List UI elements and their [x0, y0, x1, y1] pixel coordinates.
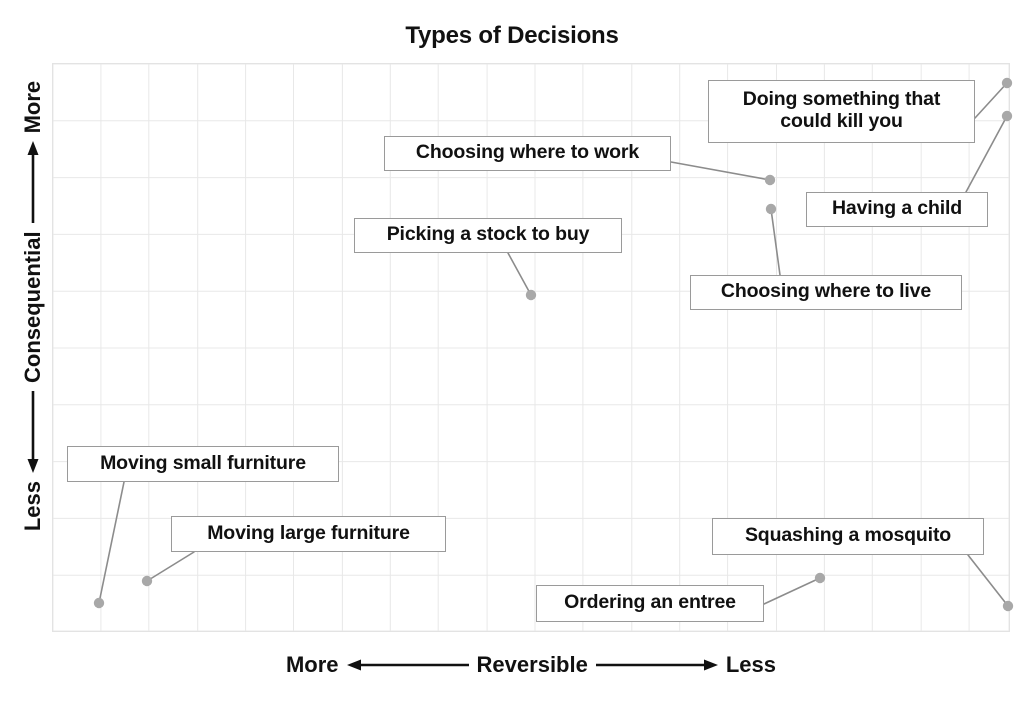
y-axis-title: Consequential — [20, 231, 46, 383]
point-label-moving-large-furniture[interactable]: Moving large furniture — [171, 516, 446, 552]
chart-title: Types of Decisions — [0, 22, 1024, 50]
y-axis-high-label: More — [20, 81, 46, 134]
x-axis-title: Reversible — [477, 652, 588, 678]
chart-root: Types of Decisions Doing something that … — [0, 0, 1024, 701]
point-label-doing-something-that-could-kill-you[interactable]: Doing something that could kill you — [708, 80, 975, 143]
x-axis-left-label: More — [286, 652, 339, 678]
y-axis-left-arrow-icon — [25, 389, 41, 475]
y-axis-low-label: Less — [20, 481, 46, 531]
point-label-ordering-an-entree[interactable]: Ordering an entree — [536, 585, 764, 622]
y-axis-right-arrow-icon — [25, 139, 41, 225]
point-label-squashing-a-mosquito[interactable]: Squashing a mosquito — [712, 518, 984, 555]
x-axis-left-arrow-icon — [345, 657, 471, 673]
point-label-having-a-child[interactable]: Having a child — [806, 192, 988, 227]
point-label-choosing-where-to-live[interactable]: Choosing where to live — [690, 275, 962, 310]
x-axis-label: More Reversible Less — [52, 642, 1010, 688]
point-label-picking-a-stock-to-buy[interactable]: Picking a stock to buy — [354, 218, 622, 253]
point-label-moving-small-furniture[interactable]: Moving small furniture — [67, 446, 339, 482]
x-axis-right-label: Less — [726, 652, 776, 678]
x-axis-right-arrow-icon — [594, 657, 720, 673]
y-axis-label: Less Consequential More — [13, 20, 53, 592]
point-label-choosing-where-to-work[interactable]: Choosing where to work — [384, 136, 671, 171]
